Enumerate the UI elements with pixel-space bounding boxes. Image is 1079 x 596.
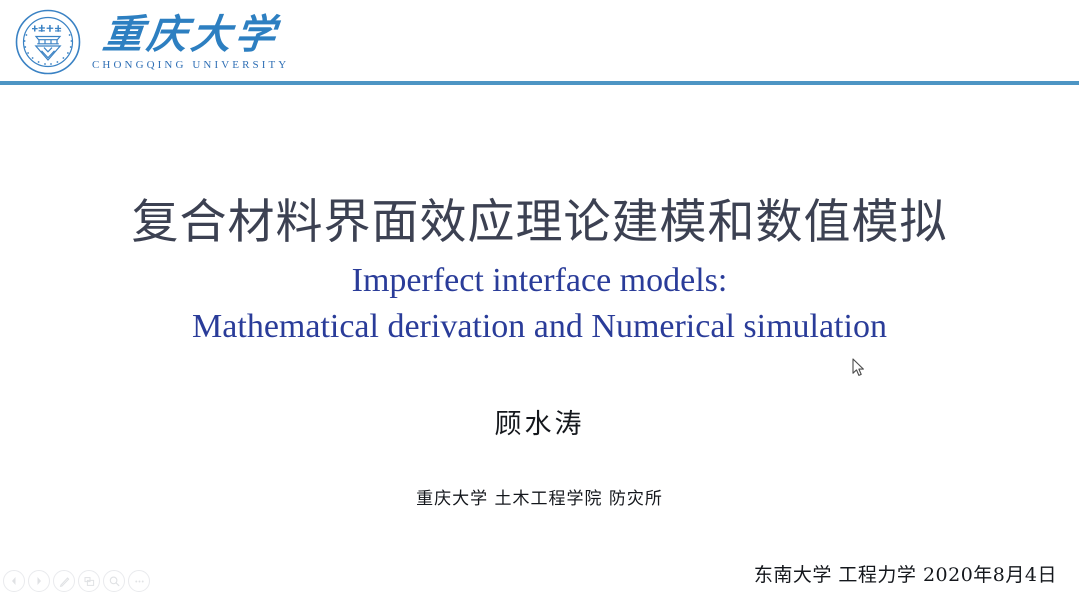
- logo-wordmark-en: CHONGQING UNIVERSITY: [92, 58, 289, 72]
- pen-tool-button[interactable]: [53, 570, 75, 592]
- slide-footer-meta: 东南大学 工程力学 2020年8月4日: [754, 562, 1057, 588]
- slide-header: 重庆大学 CHONGQING UNIVERSITY: [0, 0, 1079, 83]
- all-slides-button[interactable]: [78, 570, 100, 592]
- university-seal-icon: [14, 8, 82, 76]
- play-triangle-icon: [33, 575, 45, 587]
- logo-wordmark-cn: 重庆大学: [100, 13, 281, 57]
- ellipsis-icon: [133, 575, 146, 588]
- zoom-button[interactable]: [103, 570, 125, 592]
- header-divider: [0, 81, 1079, 85]
- slide-subtitle-english: Imperfect interface models: Mathematical…: [0, 258, 1079, 350]
- presenter-name: 顾水涛: [0, 408, 1079, 442]
- presenter-affiliation: 重庆大学 土木工程学院 防灾所: [0, 487, 1079, 511]
- pen-icon: [58, 575, 71, 588]
- more-options-button[interactable]: [128, 570, 150, 592]
- chevron-left-icon: [8, 575, 20, 587]
- mouse-cursor-icon: [852, 358, 866, 378]
- logo-wordmark: 重庆大学 CHONGQING UNIVERSITY: [92, 13, 289, 72]
- presentation-slide: 重庆大学 CHONGQING UNIVERSITY 复合材料界面效应理论建模和数…: [0, 0, 1079, 596]
- grid-slides-icon: [83, 575, 96, 588]
- previous-slide-button[interactable]: [3, 570, 25, 592]
- university-logo: 重庆大学 CHONGQING UNIVERSITY: [14, 4, 289, 80]
- subtitle-line-1: Imperfect interface models:: [352, 262, 728, 299]
- slide-title-chinese: 复合材料界面效应理论建模和数值模拟: [0, 195, 1079, 251]
- presenter-toolbar[interactable]: [3, 570, 150, 592]
- subtitle-line-2: Mathematical derivation and Numerical si…: [0, 304, 1079, 350]
- magnifier-icon: [108, 575, 121, 588]
- next-slide-button[interactable]: [28, 570, 50, 592]
